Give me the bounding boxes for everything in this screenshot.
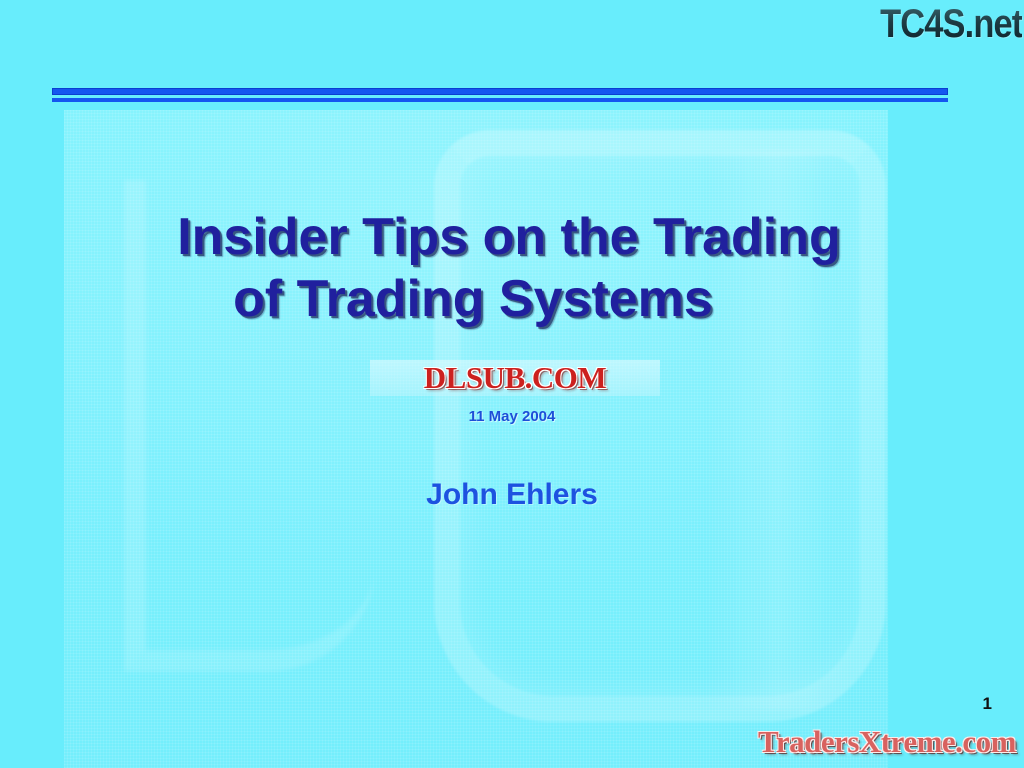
- slide-page-number: 1: [983, 694, 992, 714]
- slide-content-panel: [64, 110, 888, 768]
- divider-bar-thin: [52, 98, 948, 102]
- tc4s-watermark: TC4S.net: [880, 2, 1022, 46]
- background-watermark-shape-secondary: [124, 180, 376, 672]
- panel-texture-overlay: [64, 110, 888, 768]
- background-watermark-shape: [434, 130, 886, 722]
- header-divider-rule: [52, 88, 948, 102]
- presentation-title-slide: Insider Tips on the Trading of Trading S…: [0, 0, 1024, 768]
- divider-bar-thick: [52, 88, 948, 95]
- background-highlight-band: [704, 150, 854, 710]
